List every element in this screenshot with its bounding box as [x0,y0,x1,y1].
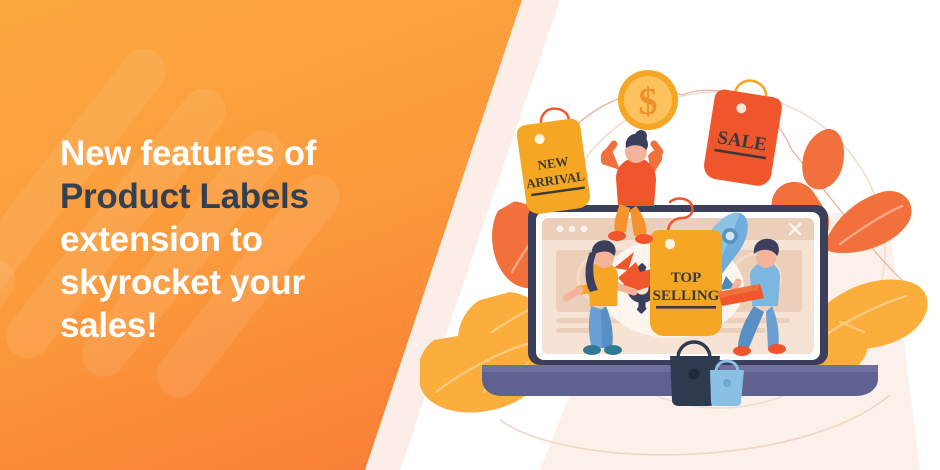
headline-line-2: Product Labels [60,175,390,218]
window-dots-icon [557,226,588,233]
top-selling-label-line2: SELLING [653,288,720,304]
headline-line-1: New features of [60,132,390,175]
dollar-coin: $ [618,70,678,130]
page-title: New features of Product Labels extension… [60,132,390,347]
dollar-symbol: $ [639,81,658,123]
promo-banner: New features of Product Labels extension… [0,0,940,470]
headline-line-3: extension to [60,218,390,261]
top-selling-label-line1: TOP [671,270,702,286]
leaf-orange-right-top [802,129,844,189]
headline-line-5: sales! [60,304,390,347]
headline-line-4: skyrocket your [60,261,390,304]
hero-illustration: TOP SELLING $ NEW ARRIVAL SALE [420,0,940,470]
